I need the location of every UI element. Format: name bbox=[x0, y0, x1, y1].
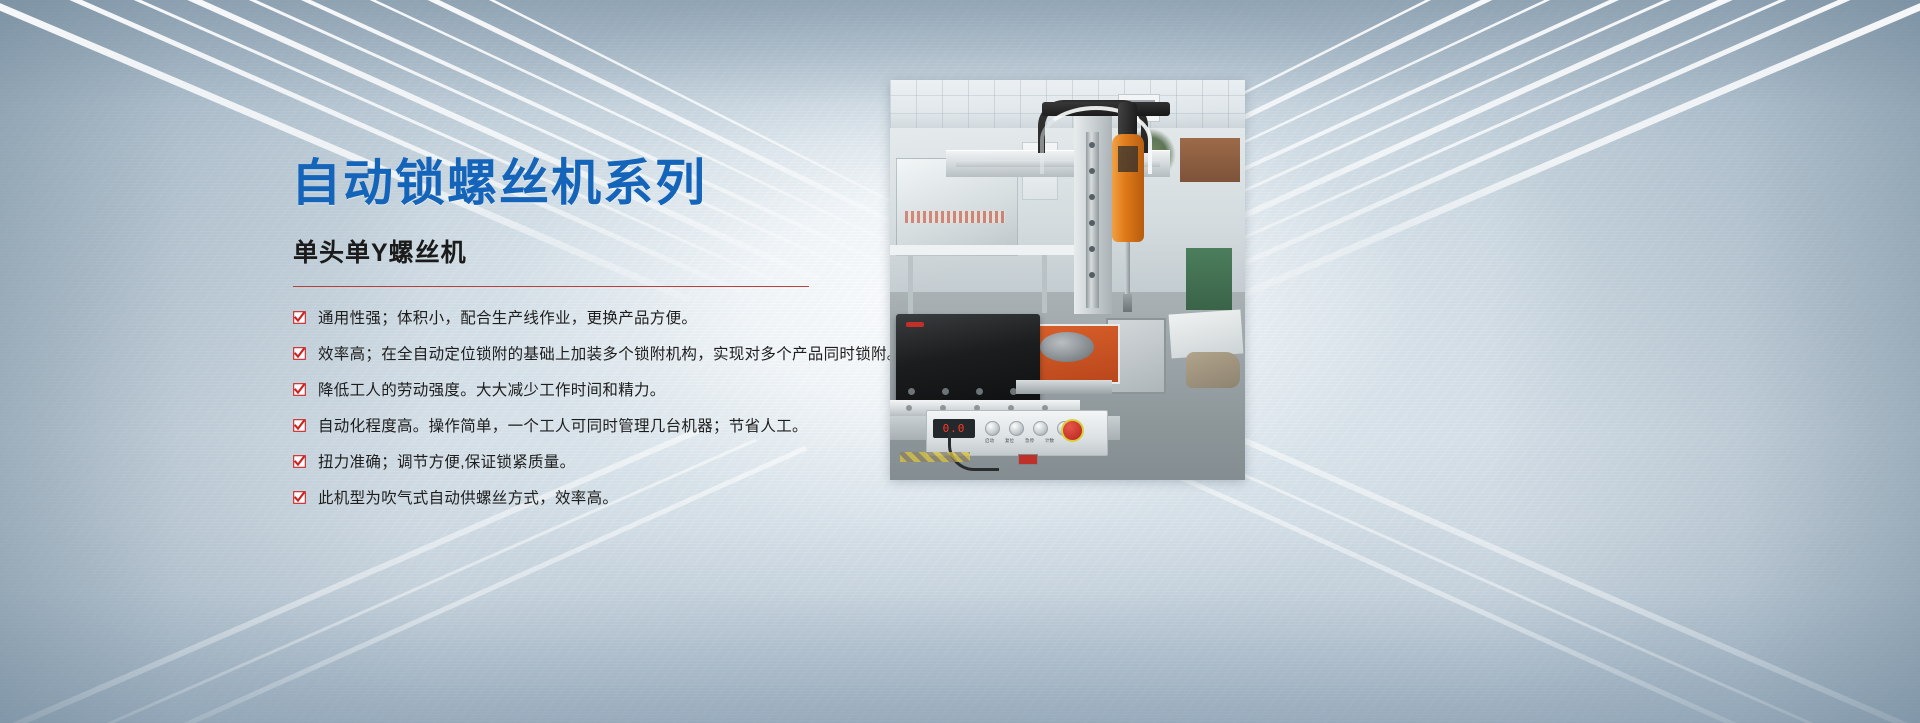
green-bin bbox=[1186, 248, 1232, 310]
screwdriver-cap bbox=[1118, 102, 1137, 138]
panel-label: 计数 bbox=[1043, 438, 1056, 444]
title-divider bbox=[293, 286, 809, 287]
emergency-stop-button[interactable] bbox=[1061, 419, 1084, 442]
list-item: 扭力准确；调节方便,保证锁紧质量。 bbox=[293, 453, 891, 474]
list-item: 自动化程度高。操作简单，一个工人可同时管理几台机器；节省人工。 bbox=[293, 417, 891, 438]
feature-text: 通用性强；体积小，配合生产线作业，更换产品方便。 bbox=[318, 309, 697, 330]
panel-label: 复位 bbox=[1003, 438, 1016, 444]
panel-button-reset[interactable] bbox=[1009, 421, 1024, 436]
list-item: 此机型为吹气式自动供螺丝方式，效率高。 bbox=[293, 489, 891, 510]
product-banner: 自动锁螺丝机系列 单头单Y螺丝机 通用性强；体积小，配合生产线作业，更换产品方便… bbox=[0, 0, 1920, 723]
panel-label: 急停 bbox=[1023, 438, 1036, 444]
check-box-icon bbox=[293, 491, 306, 509]
background-vignette-bottom bbox=[0, 523, 1920, 723]
check-box-icon bbox=[293, 347, 306, 365]
background-table-leg bbox=[1042, 255, 1047, 313]
cardboard-box bbox=[1180, 138, 1240, 182]
work-gloves bbox=[1186, 352, 1240, 388]
screwdriver-bit bbox=[1125, 242, 1130, 308]
background-vignette-right bbox=[1490, 0, 1920, 723]
floor-safety-tape bbox=[900, 452, 970, 462]
product-photo: 0.0 启动 复位 急停 计数 bbox=[890, 80, 1245, 480]
page-title: 自动锁螺丝机系列 bbox=[291, 155, 891, 211]
power-switch[interactable] bbox=[1018, 454, 1038, 465]
background-table-leg bbox=[908, 255, 913, 317]
electric-screwdriver bbox=[1112, 134, 1144, 242]
fixture-clamp-band bbox=[1016, 380, 1112, 394]
machine-linear-rail bbox=[1086, 132, 1099, 308]
panel-button-stop[interactable] bbox=[1033, 421, 1048, 436]
check-box-icon bbox=[293, 419, 306, 437]
feature-text: 自动化程度高。操作简单，一个工人可同时管理几台机器；节省人工。 bbox=[318, 417, 808, 438]
feature-text: 此机型为吹气式自动供螺丝方式，效率高。 bbox=[318, 489, 618, 510]
workpiece-disc bbox=[1040, 332, 1094, 362]
feature-text: 降低工人的劳动强度。大大减少工作时间和精力。 bbox=[318, 381, 666, 402]
feature-text: 效率高；在全自动定位锁附的基础上加装多个锁附机构，实现对多个产品同时锁附。 bbox=[318, 345, 903, 366]
check-box-icon bbox=[293, 383, 306, 401]
banner-text-column: 自动锁螺丝机系列 单头单Y螺丝机 通用性强；体积小，配合生产线作业，更换产品方便… bbox=[291, 155, 891, 525]
check-box-icon bbox=[293, 311, 306, 329]
feature-list: 通用性强；体积小，配合生产线作业，更换产品方便。 效率高；在全自动定位锁附的基础… bbox=[291, 309, 891, 510]
list-item: 效率高；在全自动定位锁附的基础上加装多个锁附机构，实现对多个产品同时锁附。 bbox=[293, 345, 891, 366]
feature-text: 扭力准确；调节方便,保证锁紧质量。 bbox=[318, 453, 575, 474]
check-box-icon bbox=[293, 455, 306, 473]
page-subtitle: 单头单Y螺丝机 bbox=[293, 233, 891, 269]
list-item: 通用性强；体积小，配合生产线作业，更换产品方便。 bbox=[293, 309, 891, 330]
list-item: 降低工人的劳动强度。大大减少工作时间和精力。 bbox=[293, 381, 891, 402]
background-table bbox=[890, 245, 1080, 255]
product-photo-scene: 0.0 启动 复位 急停 计数 bbox=[890, 80, 1245, 480]
